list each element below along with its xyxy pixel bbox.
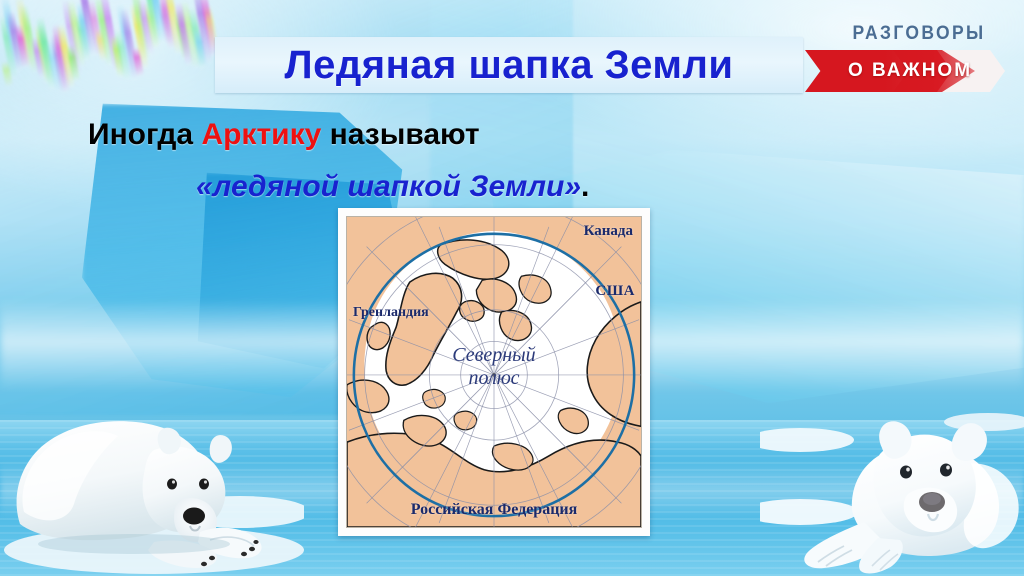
brand-logo: РАЗГОВОРЫ О ВАЖНОМ xyxy=(805,22,1005,96)
logo-chevron-banner: О ВАЖНОМ xyxy=(805,50,1005,92)
line2-period: . xyxy=(581,170,589,203)
body-line-1: Иногда Арктику называют xyxy=(88,118,480,152)
map-label-north-pole: Северный полюс xyxy=(452,344,535,390)
polar-bear-right-svg xyxy=(760,398,1024,576)
logo-banner-word: О ВАЖНОМ xyxy=(805,50,1005,92)
line1-part3: называют xyxy=(321,118,479,151)
title-band: Ледяная шапка Земли xyxy=(215,37,803,93)
polar-bear-right xyxy=(760,398,1024,576)
map-label-canada: Канада xyxy=(584,223,633,240)
slide-canvas: Ледяная шапка Земли РАЗГОВОРЫ О ВАЖНОМ И… xyxy=(0,0,1024,576)
arctic-map: Канада США Гренландия Российская Федерац… xyxy=(338,208,650,536)
body-line-2: «ледяной шапкой Земли». xyxy=(196,170,589,204)
arctic-map-canvas: Канада США Гренландия Российская Федерац… xyxy=(346,216,642,528)
line1-part1: Иногда xyxy=(88,118,201,151)
map-label-north-pole-line1: Северный xyxy=(452,344,535,367)
logo-top-word: РАЗГОВОРЫ xyxy=(849,22,989,46)
polar-bear-left xyxy=(4,392,304,576)
map-label-greenland: Гренландия xyxy=(353,305,429,321)
map-label-russia: Российская Федерация xyxy=(411,501,578,519)
polar-bear-left-svg xyxy=(4,392,304,576)
page-title: Ледяная шапка Земли xyxy=(285,45,734,85)
line1-accent-word: Арктику xyxy=(201,118,321,151)
map-label-north-pole-line2: полюс xyxy=(452,367,535,390)
map-label-usa: США xyxy=(595,283,635,300)
line2-quote: «ледяной шапкой Земли» xyxy=(196,170,581,203)
